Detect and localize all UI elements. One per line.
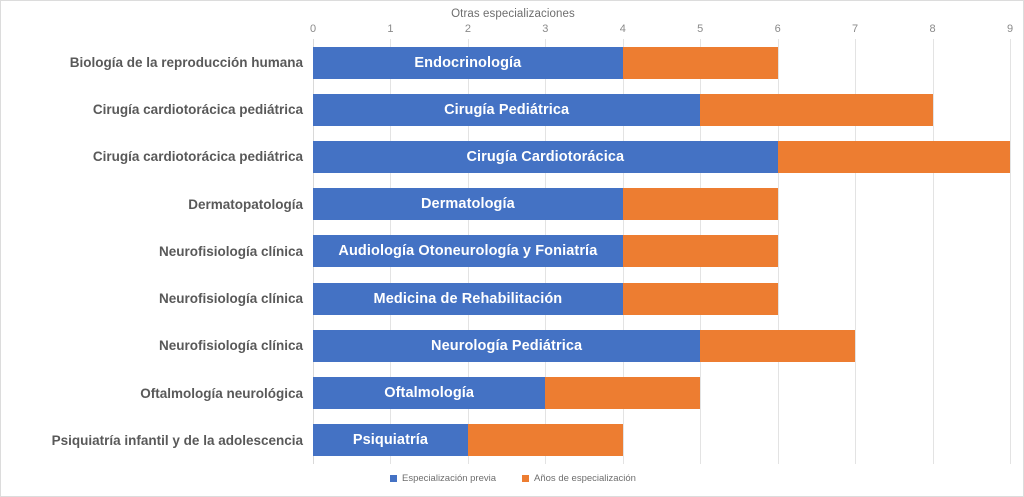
x-tick-label-9: 9 [1007,23,1013,35]
category-label: Cirugía cardiotorácica pediátrica [93,133,303,180]
bar-row: Biología de la reproducción humanaEndocr… [1,39,1024,86]
bar-segment-anios[interactable] [700,94,932,126]
legend-swatch-icon [522,475,529,482]
x-tick-label-2: 2 [465,23,471,35]
x-tick-label-4: 4 [620,23,626,35]
x-tick-label-0: 0 [310,23,316,35]
bar-value-label: Psiquiatría [353,432,428,448]
legend-label: Especialización previa [402,473,496,484]
chart-container: Otras especializaciones 0123456789 Biolo… [0,0,1024,497]
bar-track: Medicina de Rehabilitación [313,283,1010,315]
category-label: Dermatopatología [188,181,303,228]
bar-track: Psiquiatría [313,424,1010,456]
x-axis-tick-labels: 0123456789 [313,23,1010,39]
x-tick-label-6: 6 [775,23,781,35]
bar-segment-previa[interactable]: Endocrinología [313,47,623,79]
bar-segment-anios[interactable] [778,141,1010,173]
legend-item[interactable]: Especialización previa [390,473,496,484]
bar-track: Audiología Otoneurología y Foniatría [313,235,1010,267]
legend-item[interactable]: Años de especialización [522,473,636,484]
bar-track: Endocrinología [313,47,1010,79]
x-tick-label-3: 3 [542,23,548,35]
bar-segment-anios[interactable] [700,330,855,362]
bar-segment-previa[interactable]: Audiología Otoneurología y Foniatría [313,235,623,267]
bar-segment-previa[interactable]: Neurología Pediátrica [313,330,700,362]
bar-row: DermatopatologíaDermatología [1,181,1024,228]
bar-track: Cirugía Pediátrica [313,94,1010,126]
category-label: Neurofisiología clínica [159,228,303,275]
category-label: Biología de la reproducción humana [70,39,303,86]
x-tick-label-5: 5 [697,23,703,35]
bar-row: Cirugía cardiotorácica pediátricaCirugía… [1,133,1024,180]
bar-segment-anios[interactable] [623,235,778,267]
category-label: Neurofisiología clínica [159,322,303,369]
bar-segment-anios[interactable] [623,283,778,315]
bar-row: Neurofisiología clínicaNeurología Pediát… [1,322,1024,369]
bar-track: Cirugía Cardiotorácica [313,141,1010,173]
bar-row: Cirugía cardiotorácica pediátricaCirugía… [1,86,1024,133]
bar-track: Oftalmología [313,377,1010,409]
bar-track: Neurología Pediátrica [313,330,1010,362]
category-label: Neurofisiología clínica [159,275,303,322]
legend-label: Años de especialización [534,473,636,484]
bar-value-label: Cirugía Cardiotorácica [466,149,624,165]
bar-value-label: Cirugía Pediátrica [444,102,569,118]
legend-swatch-icon [390,475,397,482]
bar-row: Neurofisiología clínicaMedicina de Rehab… [1,275,1024,322]
bar-segment-previa[interactable]: Dermatología [313,188,623,220]
bar-segment-previa[interactable]: Cirugía Pediátrica [313,94,700,126]
bar-rows: Biología de la reproducción humanaEndocr… [1,39,1024,464]
x-tick-label-8: 8 [929,23,935,35]
bar-value-label: Dermatología [421,196,515,212]
bar-value-label: Oftalmología [384,385,474,401]
bar-row: Oftalmología neurológicaOftalmología [1,370,1024,417]
x-tick-label-7: 7 [852,23,858,35]
bar-row: Psiquiatría infantil y de la adolescenci… [1,417,1024,464]
bar-segment-previa[interactable]: Medicina de Rehabilitación [313,283,623,315]
chart-legend: Especialización previaAños de especializ… [1,473,1024,484]
x-tick-label-1: 1 [387,23,393,35]
bar-segment-anios[interactable] [623,188,778,220]
category-label: Psiquiatría infantil y de la adolescenci… [52,417,303,464]
bar-value-label: Endocrinología [414,55,521,71]
bar-value-label: Medicina de Rehabilitación [374,291,563,307]
chart-title: Otras especializaciones [1,8,1024,20]
bar-row: Neurofisiología clínicaAudiología Otoneu… [1,228,1024,275]
bar-segment-anios[interactable] [468,424,623,456]
bar-value-label: Audiología Otoneurología y Foniatría [338,243,597,259]
category-label: Cirugía cardiotorácica pediátrica [93,86,303,133]
category-label: Oftalmología neurológica [140,370,303,417]
bar-segment-previa[interactable]: Psiquiatría [313,424,468,456]
bar-segment-anios[interactable] [623,47,778,79]
bar-value-label: Neurología Pediátrica [431,338,582,354]
bar-segment-anios[interactable] [545,377,700,409]
bar-segment-previa[interactable]: Oftalmología [313,377,545,409]
bar-segment-previa[interactable]: Cirugía Cardiotorácica [313,141,778,173]
bar-track: Dermatología [313,188,1010,220]
